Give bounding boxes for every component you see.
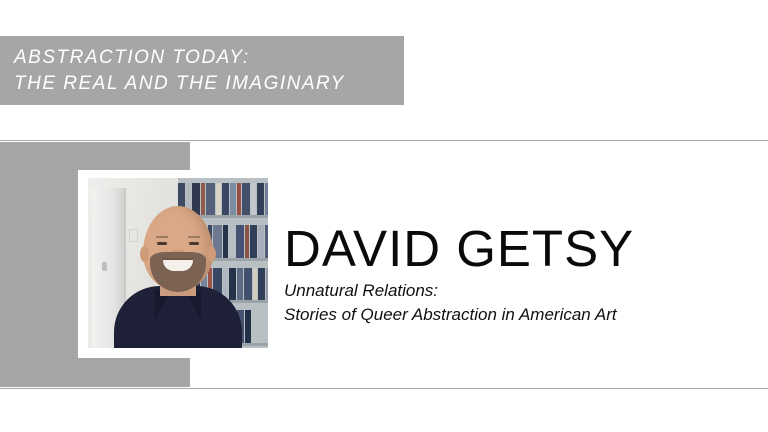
portrait-eye-right [189, 242, 199, 245]
talk-title-line-2: Stories of Queer Abstraction in American… [284, 303, 617, 327]
speaker-name: DAVID GETSY [284, 219, 634, 278]
portrait-brow-right [188, 236, 200, 238]
portrait-ear-left [140, 246, 149, 262]
talk-title-line-1: Unnatural Relations: [284, 279, 617, 303]
event-title-text: ABSTRACTION TODAY: THE REAL AND THE IMAG… [14, 45, 345, 97]
portrait-head [143, 206, 213, 290]
portrait-ear-right [207, 246, 216, 262]
speaker-photo [88, 178, 268, 348]
speaker-portrait-figure [113, 230, 243, 348]
event-title-line-2: THE REAL AND THE IMAGINARY [14, 71, 345, 97]
portrait-eye-left [157, 242, 167, 245]
portrait-brow-left [156, 236, 168, 238]
divider-rule-bottom [0, 388, 768, 389]
event-title-line-1: ABSTRACTION TODAY: [14, 45, 345, 71]
divider-rule-top [0, 140, 768, 141]
event-title-banner: ABSTRACTION TODAY: THE REAL AND THE IMAG… [0, 36, 404, 105]
talk-title: Unnatural Relations: Stories of Queer Ab… [284, 279, 617, 327]
photo-doorknob [102, 262, 107, 271]
presentation-slide: ABSTRACTION TODAY: THE REAL AND THE IMAG… [0, 0, 768, 432]
speaker-photo-frame [78, 170, 278, 358]
